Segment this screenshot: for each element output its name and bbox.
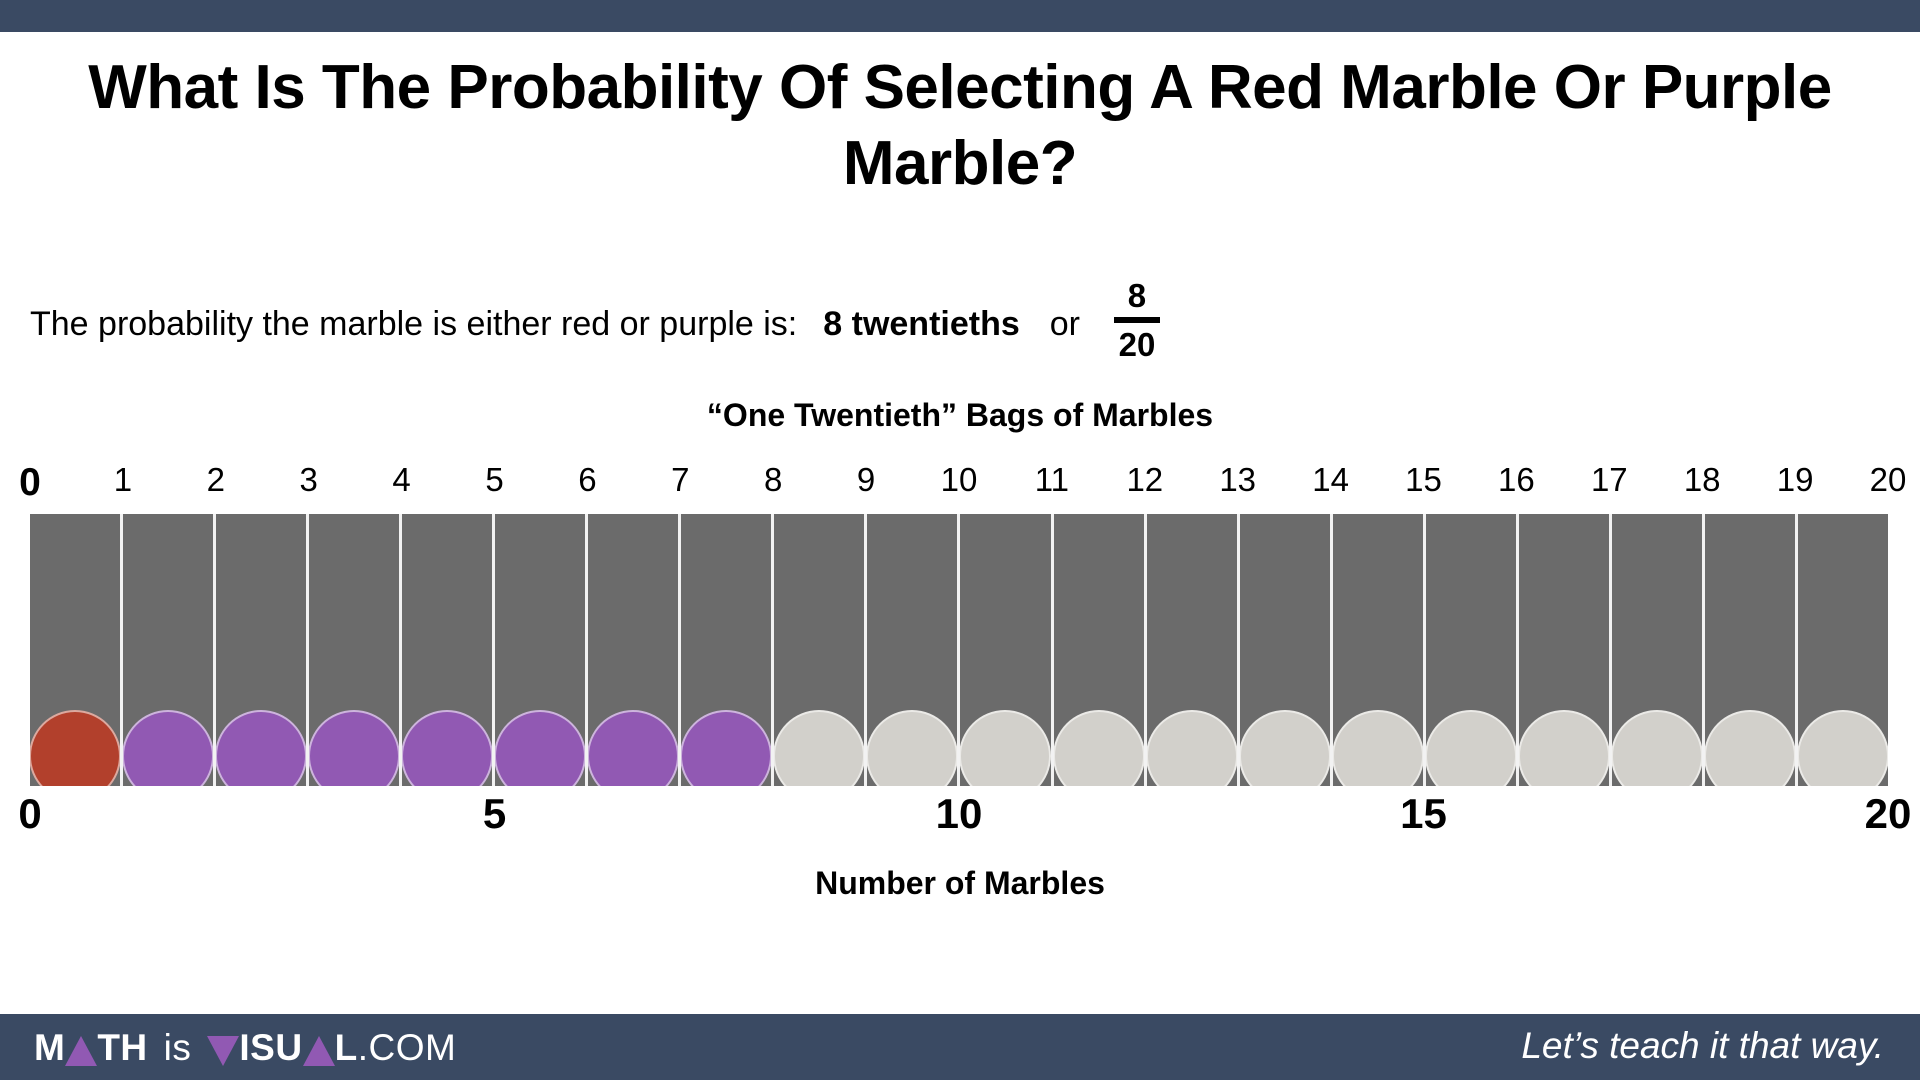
- marble-cell-5[interactable]: [495, 514, 588, 786]
- top-tick-0: 0: [19, 461, 41, 505]
- top-tick-20: 20: [1870, 461, 1907, 499]
- marble-cell-15[interactable]: [1426, 514, 1519, 786]
- chart-heading: “One Twentieth” Bags of Marbles: [0, 397, 1920, 434]
- footer-tagline: Let’s teach it that way.: [1521, 1025, 1884, 1067]
- marble-grey-9: [867, 710, 958, 786]
- marble-cell-17[interactable]: [1612, 514, 1705, 786]
- marble-cell-18[interactable]: [1705, 514, 1798, 786]
- bottom-tick-0: 0: [18, 790, 41, 838]
- marble-grey-8: [774, 710, 865, 786]
- top-tick-2: 2: [207, 461, 225, 499]
- top-tick-12: 12: [1126, 461, 1163, 499]
- slide-canvas: What Is The Probability Of Selecting A R…: [0, 0, 1920, 1080]
- marble-cell-9[interactable]: [867, 514, 960, 786]
- logo-text-m: M: [34, 1027, 65, 1069]
- top-tick-8: 8: [764, 461, 782, 499]
- top-tick-13: 13: [1219, 461, 1256, 499]
- marble-grey-19: [1798, 710, 1888, 786]
- triangle-up-icon-a1: [65, 1036, 97, 1066]
- marble-cell-3[interactable]: [309, 514, 402, 786]
- marble-cell-6[interactable]: [588, 514, 681, 786]
- page-title: What Is The Probability Of Selecting A R…: [0, 50, 1920, 201]
- marble-purple-7: [681, 710, 772, 786]
- marble-cell-10[interactable]: [960, 514, 1053, 786]
- marble-grey-11: [1054, 710, 1145, 786]
- probability-fraction: 8 20: [1114, 277, 1160, 363]
- top-tick-14: 14: [1312, 461, 1349, 499]
- marble-purple-4: [402, 710, 493, 786]
- marble-cell-13[interactable]: [1240, 514, 1333, 786]
- marble-grey-17: [1612, 710, 1703, 786]
- bottom-tick-15: 15: [1400, 790, 1447, 838]
- top-tick-18: 18: [1684, 461, 1721, 499]
- marble-cell-16[interactable]: [1519, 514, 1612, 786]
- marble-cell-2[interactable]: [216, 514, 309, 786]
- top-tick-19: 19: [1777, 461, 1814, 499]
- logo-text-l: L: [335, 1027, 358, 1069]
- marble-red-0: [30, 710, 121, 786]
- top-band: [0, 0, 1920, 32]
- site-logo[interactable]: M TH is ISU L .COM: [34, 1026, 456, 1070]
- logo-text-th: TH: [97, 1027, 147, 1069]
- triangle-down-icon-v: [207, 1036, 239, 1066]
- bottom-tick-10: 10: [936, 790, 983, 838]
- marble-cell-1[interactable]: [123, 514, 216, 786]
- marble-purple-2: [216, 710, 307, 786]
- top-tick-7: 7: [671, 461, 689, 499]
- marble-cell-19[interactable]: [1798, 514, 1888, 786]
- top-tick-10: 10: [941, 461, 978, 499]
- fraction-bar: [1114, 317, 1160, 323]
- marble-cell-12[interactable]: [1147, 514, 1240, 786]
- probability-or-word: or: [1050, 305, 1080, 344]
- top-tick-15: 15: [1405, 461, 1442, 499]
- marble-purple-5: [495, 710, 586, 786]
- top-tick-11: 11: [1035, 461, 1069, 499]
- marble-cell-8[interactable]: [774, 514, 867, 786]
- marble-grey-10: [960, 710, 1051, 786]
- logo-text-dotcom: .COM: [358, 1027, 457, 1069]
- probability-answer-words: 8 twentieths: [823, 305, 1019, 344]
- top-tick-axis: 01234567891011121314151617181920: [30, 461, 1888, 505]
- top-tick-16: 16: [1498, 461, 1535, 499]
- marble-bar: [30, 514, 1888, 786]
- marble-cell-14[interactable]: [1333, 514, 1426, 786]
- top-tick-4: 4: [392, 461, 410, 499]
- marble-purple-6: [588, 710, 679, 786]
- logo-text-isu: ISU: [239, 1027, 302, 1069]
- marble-grey-13: [1240, 710, 1331, 786]
- top-tick-3: 3: [300, 461, 318, 499]
- triangle-up-icon-a2: [303, 1036, 335, 1066]
- fraction-denominator: 20: [1115, 326, 1160, 363]
- bottom-tick-5: 5: [483, 790, 506, 838]
- marble-grey-16: [1519, 710, 1610, 786]
- bottom-tick-20: 20: [1865, 790, 1912, 838]
- marble-grey-14: [1333, 710, 1424, 786]
- marble-grey-15: [1426, 710, 1517, 786]
- marble-grey-12: [1147, 710, 1238, 786]
- top-tick-6: 6: [578, 461, 596, 499]
- top-tick-5: 5: [485, 461, 503, 499]
- logo-text-is: is: [164, 1027, 192, 1069]
- marble-cell-4[interactable]: [402, 514, 495, 786]
- marble-cell-7[interactable]: [681, 514, 774, 786]
- probability-statement: The probability the marble is either red…: [30, 281, 1730, 367]
- marble-cell-11[interactable]: [1054, 514, 1147, 786]
- marble-purple-3: [309, 710, 400, 786]
- probability-statement-lead: The probability the marble is either red…: [30, 305, 797, 344]
- marble-grey-18: [1705, 710, 1796, 786]
- top-tick-1: 1: [114, 461, 132, 499]
- top-tick-9: 9: [857, 461, 875, 499]
- top-tick-17: 17: [1591, 461, 1628, 499]
- fraction-numerator: 8: [1124, 277, 1150, 314]
- bottom-tick-axis: 05101520: [30, 790, 1888, 842]
- marble-purple-1: [123, 710, 214, 786]
- x-axis-label: Number of Marbles: [0, 865, 1920, 902]
- marble-cell-0[interactable]: [30, 514, 123, 786]
